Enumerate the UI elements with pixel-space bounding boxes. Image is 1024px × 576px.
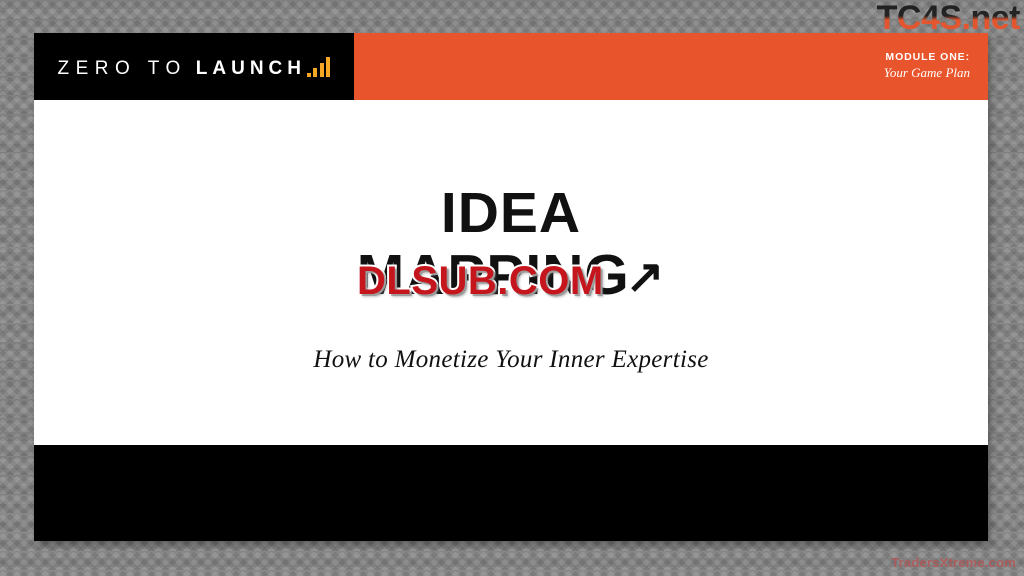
module-label: MODULE ONE: (884, 51, 970, 64)
module-name: Your Game Plan (884, 65, 970, 81)
slide-subtitle: How to Monetize Your Inner Expertise (34, 346, 988, 374)
watermark-center: DLSUB.COM (357, 259, 604, 304)
watermark-bottom-right: TradersXtreme.com (891, 555, 1016, 570)
watermark-top-right: TC4S.net (877, 1, 1020, 35)
brand-logo: ZERO TO LAUNCH (34, 33, 354, 100)
bar-chart-icon (307, 57, 331, 77)
arrow-up-right-icon: ↗ (626, 252, 666, 302)
page-background: ZERO TO LAUNCH MODULE ONE: Your Game Pla… (0, 0, 1024, 576)
module-info: MODULE ONE: Your Game Plan (884, 51, 988, 81)
header-spacer (354, 33, 884, 100)
slide-header: ZERO TO LAUNCH MODULE ONE: Your Game Pla… (34, 33, 988, 100)
logo-text-launch: LAUNCH (196, 59, 306, 78)
title-line-1: IDEA (34, 183, 988, 245)
slide-footer-bar (34, 445, 988, 541)
logo-text-zero-to: ZERO TO (58, 59, 187, 78)
